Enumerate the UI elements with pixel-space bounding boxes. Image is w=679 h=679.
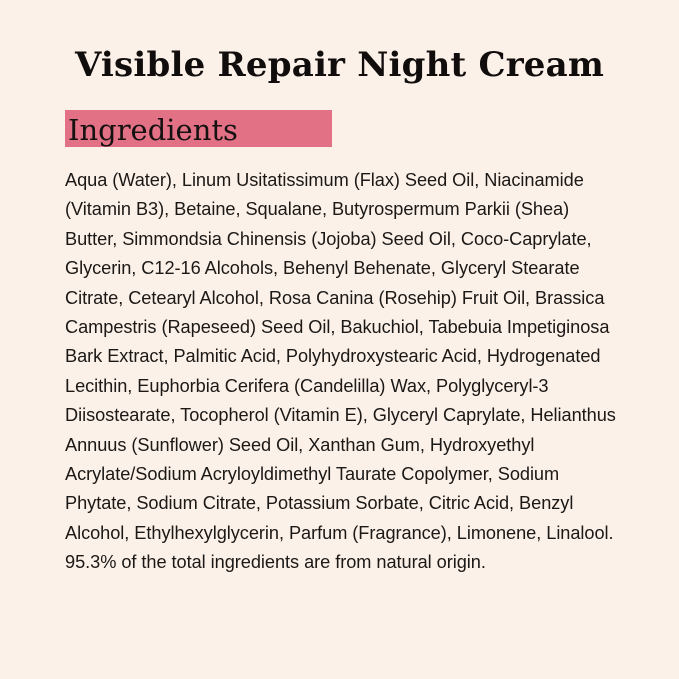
natural-origin-note: 95.3% of the total ingredients are from … [65, 548, 617, 577]
ingredients-list-text: Aqua (Water), Linum Usitatissimum (Flax)… [65, 166, 617, 548]
ingredients-heading-label: Ingredients [68, 110, 238, 151]
product-ingredients-label: Visible Repair Night Cream Ingredients A… [0, 0, 679, 679]
ingredients-content: Aqua (Water), Linum Usitatissimum (Flax)… [65, 166, 617, 578]
page-title: Visible Repair Night Cream [0, 47, 679, 84]
ingredients-section-heading: Ingredients [65, 110, 332, 147]
